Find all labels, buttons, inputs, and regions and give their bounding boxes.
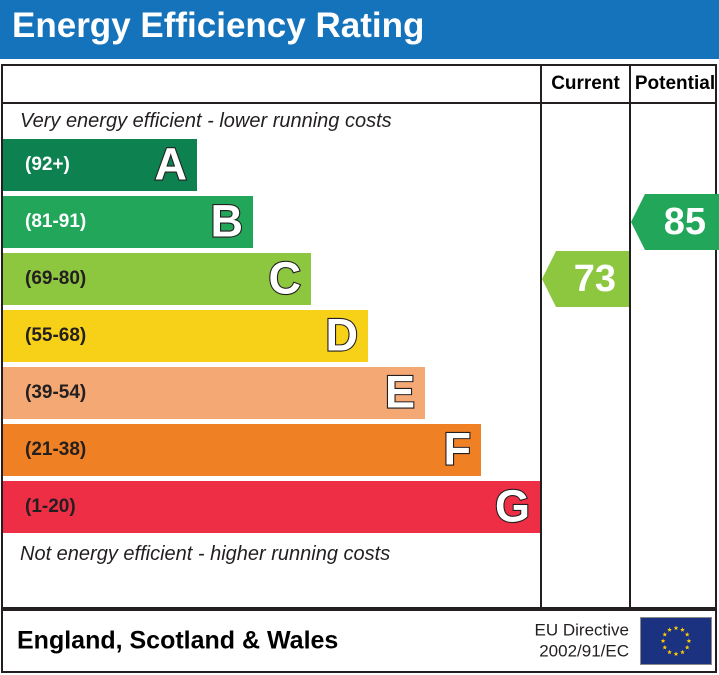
eu-flag-icon [640,617,712,665]
rating-band-e: (39-54)E [3,367,425,419]
band-letter: E [385,370,415,415]
eu-directive-label: EU Directive 2002/91/EC [523,620,629,661]
chart-title-bar: Energy Efficiency Rating [0,0,719,59]
rating-marker-current: 73 [542,251,629,307]
band-range-label: (1-20) [25,496,76,518]
band-letter: D [326,313,359,358]
caption-bottom: Not energy efficient - higher running co… [3,537,540,571]
eu-directive-line2: 2002/91/EC [523,641,629,662]
eu-directive-line1: EU Directive [523,620,629,641]
rating-marker-potential: 85 [631,194,719,250]
caption-top: Very energy efficient - lower running co… [3,104,540,138]
energy-efficiency-rating-chart: Energy Efficiency Rating Current Potenti… [0,0,719,675]
rating-band-a: (92+)A [3,139,197,191]
region-label: England, Scotland & Wales [17,627,338,656]
band-list: (92+)A(81-91)B(69-80)C(55-68)D(39-54)E(2… [3,139,540,537]
band-letter: G [495,484,530,529]
column-header-row: Current Potential [3,66,715,104]
rating-band-b: (81-91)B [3,196,253,248]
page-title: Energy Efficiency Rating [12,6,424,46]
band-range-label: (92+) [25,154,70,176]
band-letter: B [211,199,244,244]
column-header-current: Current [540,66,629,102]
band-range-label: (39-54) [25,382,86,404]
band-range-label: (55-68) [25,325,86,347]
band-letter: C [269,256,302,301]
rating-table: Current Potential Very energy efficient … [1,64,717,609]
rating-band-d: (55-68)D [3,310,368,362]
band-range-label: (81-91) [25,211,86,233]
rating-band-c: (69-80)C [3,253,311,305]
column-divider-current [540,104,542,609]
rating-band-g: (1-20)G [3,481,540,533]
band-letter: A [155,142,188,187]
column-header-potential: Potential [629,66,719,102]
rating-band-f: (21-38)F [3,424,481,476]
band-letter: F [444,427,472,472]
column-divider-potential [629,104,631,609]
chart-footer: England, Scotland & Wales EU Directive 2… [1,609,717,673]
band-range-label: (21-38) [25,439,86,461]
band-range-label: (69-80) [25,268,86,290]
